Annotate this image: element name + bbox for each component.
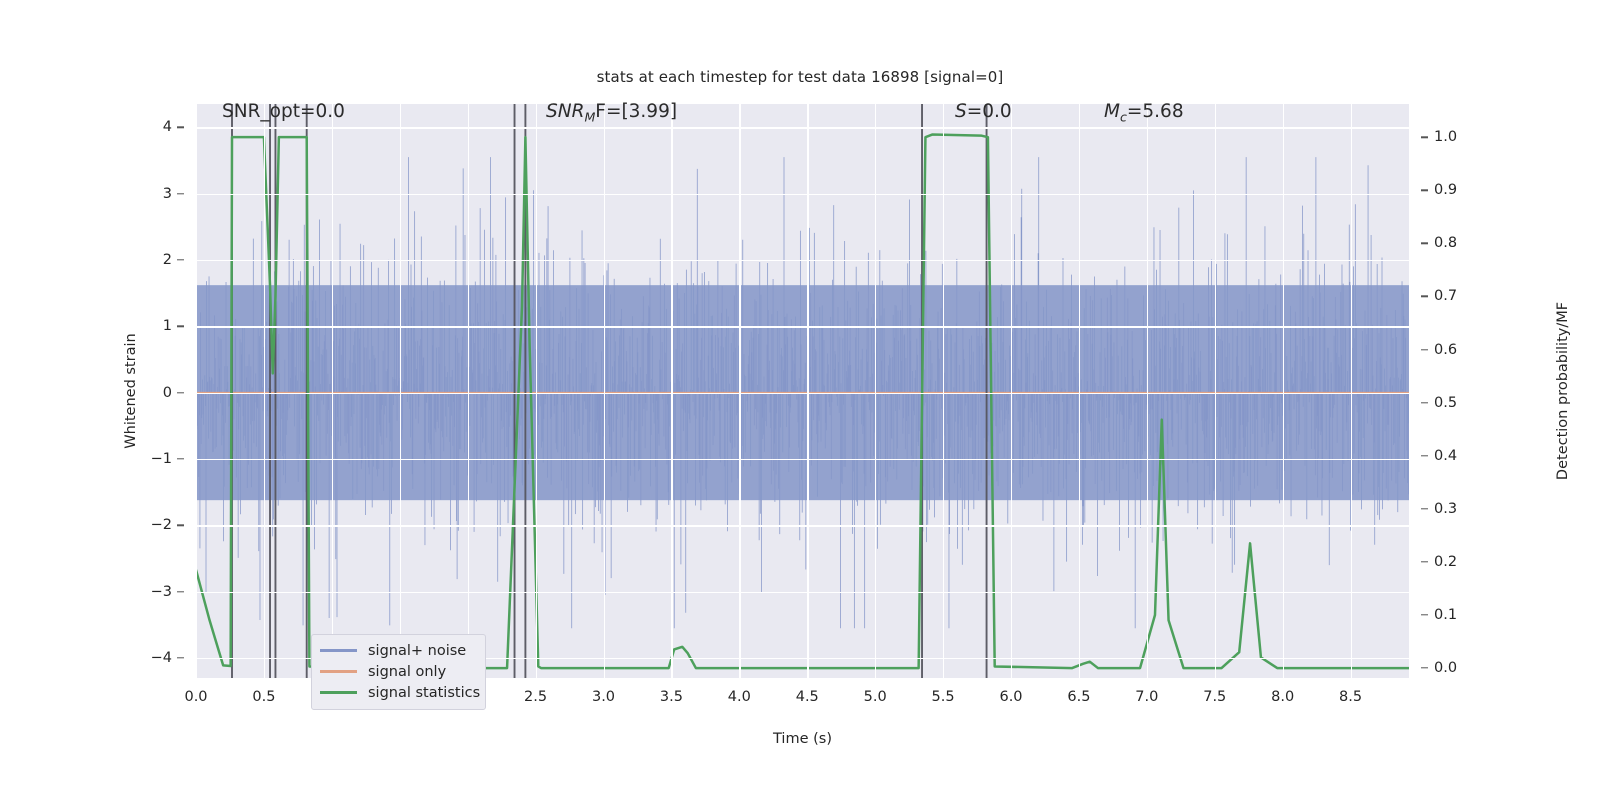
- gridline-horizontal: [196, 127, 1409, 128]
- gridline-vertical: [400, 104, 401, 678]
- gridline-vertical: [671, 104, 672, 678]
- y-axis-left-tick-label: 4: [163, 119, 172, 135]
- y-axis-right-tick-label: 1.0: [1434, 129, 1457, 145]
- legend-label: signal statistics: [368, 685, 480, 701]
- y-axis-right-label: Detection probability/MF: [1555, 302, 1571, 480]
- y-axis-right-ticks: 1.00.90.80.70.60.50.40.30.20.10.0: [1409, 104, 1529, 678]
- legend-item: signal only: [320, 661, 477, 682]
- legend-label: signal only: [368, 664, 446, 680]
- gridline-vertical: [807, 104, 808, 678]
- y-axis-left-tick-label: −3: [151, 584, 172, 600]
- x-axis-tick-label: 0.5: [252, 689, 275, 705]
- x-axis-tick-label: 4.0: [728, 689, 751, 705]
- y-axis-left-tick-mark: [177, 657, 184, 658]
- y-axis-left-tick-mark: [177, 259, 184, 260]
- y-axis-right-tick-label: 0.2: [1434, 554, 1457, 570]
- x-axis-tick-label: 6.0: [999, 689, 1022, 705]
- x-axis-tick-label: 7.0: [1135, 689, 1158, 705]
- y-axis-right-tick-label: 0.4: [1434, 448, 1457, 464]
- y-axis-right-tick-mark: [1421, 296, 1428, 297]
- y-axis-left-tick-mark: [177, 458, 184, 459]
- legend-color-swatch: [320, 649, 357, 651]
- y-axis-right-tick-mark: [1421, 667, 1428, 668]
- gridline-horizontal: [196, 260, 1409, 261]
- y-axis-right-tick-label: 0.7: [1434, 288, 1457, 304]
- y-axis-left-tick-mark: [177, 392, 184, 393]
- y-axis-left-tick-mark: [177, 525, 184, 526]
- annotation-snr-opt: SNR_opt=0.0: [222, 101, 345, 122]
- y-axis-left-tick-label: −1: [151, 451, 172, 467]
- y-axis-left-tick-label: 3: [163, 186, 172, 202]
- y-axis-left-tick-label: 2: [163, 252, 172, 268]
- y-axis-right-tick-mark: [1421, 402, 1428, 403]
- annotation-chirp-mass: Mc=5.68: [1104, 101, 1184, 125]
- y-axis-right-tick-label: 0.3: [1434, 501, 1457, 517]
- y-axis-right-tick-label: 0.9: [1434, 182, 1457, 198]
- y-axis-left-tick-label: −4: [151, 650, 172, 666]
- y-axis-right-tick-mark: [1421, 190, 1428, 191]
- gridline-horizontal: [196, 194, 1409, 195]
- annotation-significance: S=0.0: [955, 101, 1012, 122]
- y-axis-right-tick-label: 0.8: [1434, 235, 1457, 251]
- y-axis-left-ticks: 43210−1−2−3−4: [0, 104, 196, 678]
- legend-item: signal+ noise: [320, 640, 477, 661]
- x-axis-tick-label: 6.5: [1067, 689, 1090, 705]
- y-axis-right-tick-mark: [1421, 349, 1428, 350]
- gridline-vertical: [1351, 104, 1352, 678]
- y-axis-right-tick-label: 0.6: [1434, 342, 1457, 358]
- gridline-vertical: [1011, 104, 1012, 678]
- legend-color-swatch: [320, 691, 357, 693]
- gridline-vertical: [196, 104, 197, 678]
- grid-layer: [196, 104, 1409, 678]
- y-axis-left-tick-mark: [177, 193, 184, 194]
- plot-area: [196, 104, 1409, 678]
- x-axis-tick-label: 8.0: [1271, 689, 1294, 705]
- x-axis-tick-label: 8.5: [1339, 689, 1362, 705]
- gridline-vertical: [1079, 104, 1080, 678]
- gridline-vertical: [536, 104, 537, 678]
- y-axis-right-tick-mark: [1421, 614, 1428, 615]
- y-axis-left-tick-label: −2: [151, 517, 172, 533]
- gridline-vertical: [1147, 104, 1148, 678]
- x-axis-tick-label: 3.0: [592, 689, 615, 705]
- x-axis-tick-label: 4.5: [796, 689, 819, 705]
- y-axis-right-tick-mark: [1421, 243, 1428, 244]
- y-axis-left-tick-label: 0: [163, 385, 172, 401]
- x-axis-label: Time (s): [196, 731, 1409, 747]
- y-axis-right-tick-mark: [1421, 136, 1428, 137]
- y-axis-left-label: Whitened strain: [123, 333, 139, 448]
- legend-item: signal statistics: [320, 682, 477, 703]
- gridline-vertical: [875, 104, 876, 678]
- gridline-vertical: [332, 104, 333, 678]
- y-axis-left-tick-mark: [177, 591, 184, 592]
- gridline-vertical: [604, 104, 605, 678]
- x-axis-tick-label: 2.5: [524, 689, 547, 705]
- legend-label: signal+ noise: [368, 643, 466, 659]
- y-axis-right-tick-mark: [1421, 455, 1428, 456]
- gridline-horizontal: [196, 459, 1409, 460]
- x-axis-tick-label: 3.5: [660, 689, 683, 705]
- x-axis-tick-label: 5.0: [864, 689, 887, 705]
- x-axis-tick-label: 5.5: [932, 689, 955, 705]
- gridline-vertical: [264, 104, 265, 678]
- y-axis-right-tick-mark: [1421, 561, 1428, 562]
- gridline-vertical: [943, 104, 944, 678]
- y-axis-left-tick-mark: [177, 326, 184, 327]
- y-axis-right-tick-label: 0.5: [1434, 395, 1457, 411]
- y-axis-right-tick-label: 0.1: [1434, 607, 1457, 623]
- gridline-horizontal: [196, 326, 1409, 327]
- gridline-vertical: [1215, 104, 1216, 678]
- x-axis-tick-label: 0.0: [184, 689, 207, 705]
- y-axis-right-tick-mark: [1421, 508, 1428, 509]
- gridline-vertical: [739, 104, 740, 678]
- gridline-horizontal: [196, 393, 1409, 394]
- page-title: stats at each timestep for test data 168…: [0, 68, 1600, 86]
- matplotlib-figure: stats at each timestep for test data 168…: [0, 0, 1600, 800]
- y-axis-left-tick-label: 1: [163, 318, 172, 334]
- legend-color-swatch: [320, 670, 357, 672]
- annotation-snr-mf: SNRMF=[3.99]: [546, 101, 677, 125]
- gridline-vertical: [468, 104, 469, 678]
- gridline-horizontal: [196, 525, 1409, 526]
- x-axis-tick-label: 7.5: [1203, 689, 1226, 705]
- legend: signal+ noisesignal onlysignal statistic…: [311, 634, 486, 710]
- gridline-vertical: [1283, 104, 1284, 678]
- y-axis-right-tick-label: 0.0: [1434, 660, 1457, 676]
- y-axis-left-tick-mark: [177, 127, 184, 128]
- gridline-horizontal: [196, 592, 1409, 593]
